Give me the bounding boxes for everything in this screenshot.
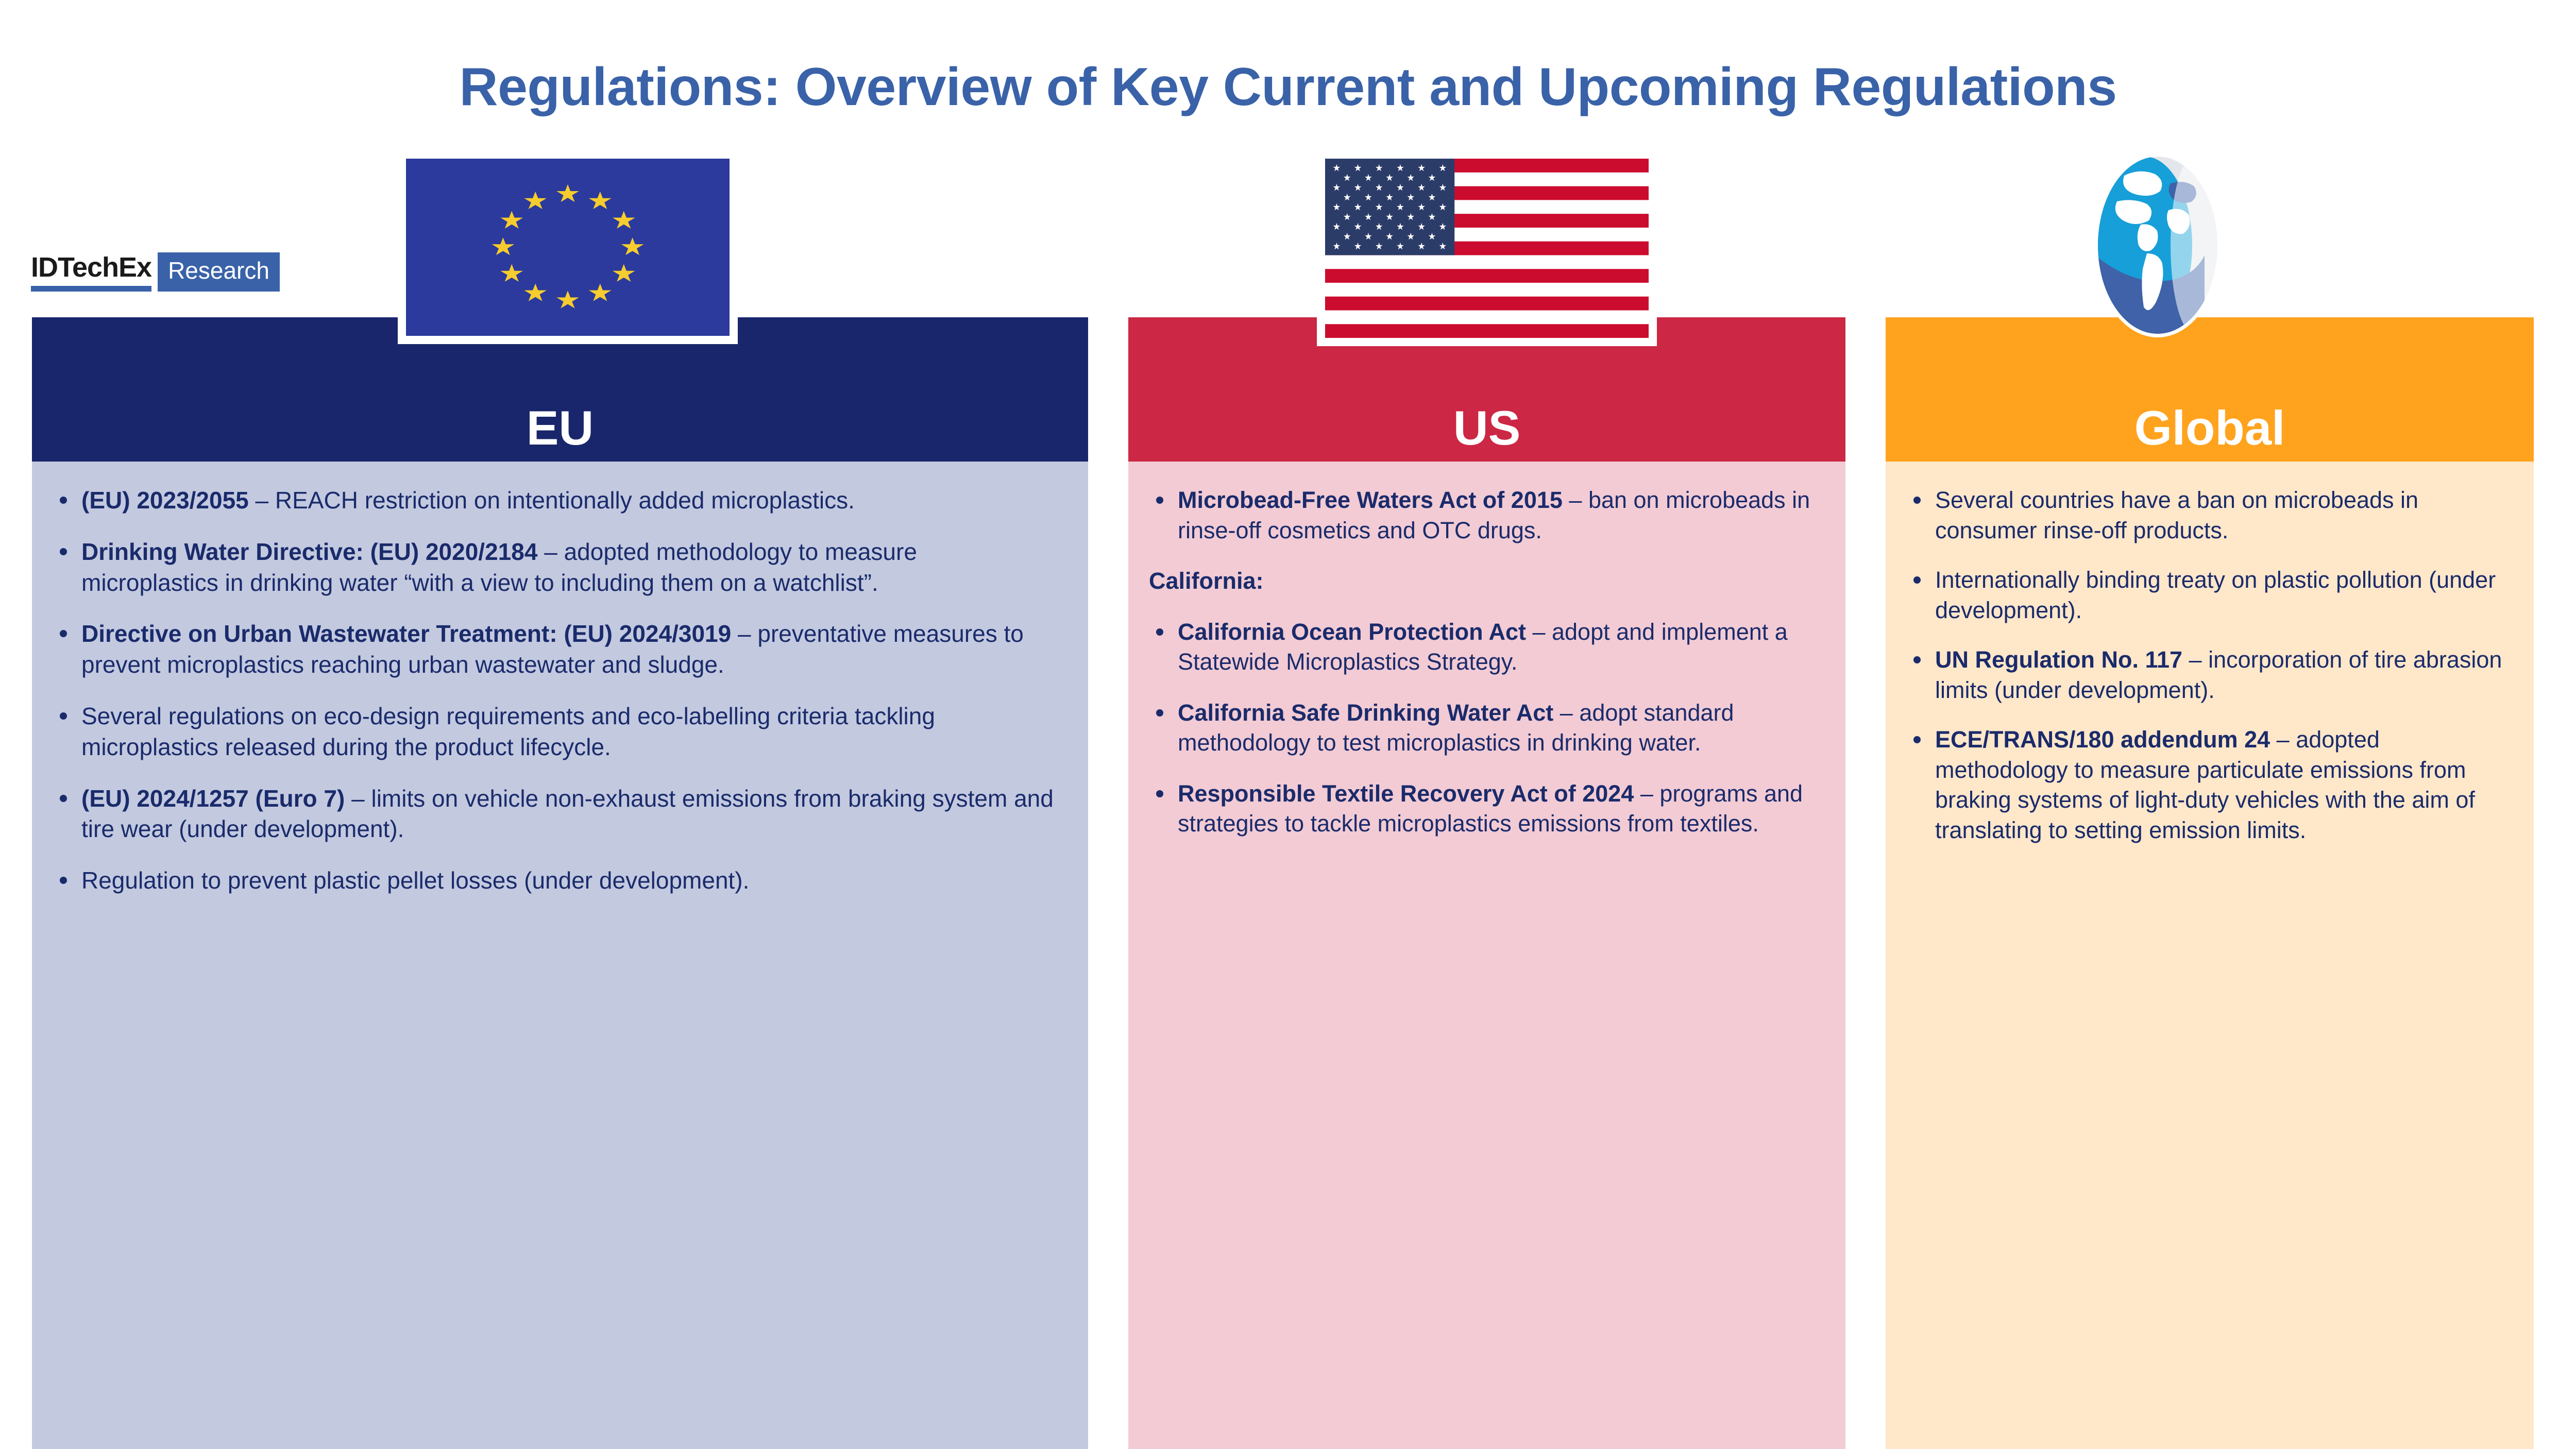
list-item-term: (EU) 2024/1257 (Euro 7) <box>81 785 345 812</box>
list-item-text: Regulation to prevent plastic pellet los… <box>81 867 749 894</box>
eu-flag-border <box>398 150 738 344</box>
eu-bullet-list: (EU) 2023/2055 – REACH restriction on in… <box>53 485 1059 896</box>
list-item: Microbead-Free Waters Act of 2015 – ban … <box>1149 485 1817 545</box>
list-item: Regulation to prevent plastic pellet los… <box>53 865 1059 896</box>
us-bullet-list-bottom: California Ocean Protection Act – adopt … <box>1149 617 1817 839</box>
list-item: UN Regulation No. 117 – incorporation of… <box>1906 645 2505 705</box>
column-us-body: Microbead-Free Waters Act of 2015 – ban … <box>1128 462 1845 1449</box>
list-item: Several regulations on eco-design requir… <box>53 701 1059 763</box>
list-item-term: Microbead-Free Waters Act of 2015 <box>1178 487 1563 513</box>
list-item-term: ECE/TRANS/180 addendum 24 <box>1935 726 2270 753</box>
slide-root: Regulations: Overview of Key Current and… <box>0 0 2576 1449</box>
list-item: ECE/TRANS/180 addendum 24 – adopted meth… <box>1906 725 2505 845</box>
list-item-text: – REACH restriction on intentionally add… <box>249 487 855 514</box>
column-global-label: Global <box>2134 404 2285 452</box>
eu-flag-field <box>406 159 730 336</box>
list-item-term: California Ocean Protection Act <box>1178 619 1526 645</box>
column-us-label: US <box>1453 404 1521 452</box>
list-item: Responsible Textile Recovery Act of 2024… <box>1149 779 1817 839</box>
idtechex-logo: IDTechEx Research <box>31 252 280 292</box>
page-title: Regulations: Overview of Key Current and… <box>0 57 2576 118</box>
column-eu: EU (EU) 2023/2055 – REACH restriction on… <box>32 317 1088 1449</box>
us-flag-field <box>1325 159 1649 338</box>
list-item-term: Responsible Textile Recovery Act of 2024 <box>1178 780 1634 807</box>
list-item-term: Drinking Water Directive: (EU) 2020/2184 <box>81 538 537 565</box>
eu-flag-icon <box>398 150 738 344</box>
list-item: Internationally binding treaty on plasti… <box>1906 565 2505 625</box>
list-item-term: (EU) 2023/2055 <box>81 487 249 514</box>
us-bullet-list-top: Microbead-Free Waters Act of 2015 – ban … <box>1149 485 1817 545</box>
list-item: (EU) 2024/1257 (Euro 7) – limits on vehi… <box>53 783 1059 845</box>
column-global-header: Global <box>1886 317 2534 462</box>
list-item-term: UN Regulation No. 117 <box>1935 646 2182 673</box>
list-item: Several countries have a ban on microbea… <box>1906 485 2505 545</box>
us-subheading-california: California: <box>1149 566 1817 596</box>
list-item: Drinking Water Directive: (EU) 2020/2184… <box>53 537 1059 599</box>
list-item-term: Directive on Urban Wastewater Treatment:… <box>81 620 731 647</box>
list-item: (EU) 2023/2055 – REACH restriction on in… <box>53 485 1059 516</box>
list-item: California Safe Drinking Water Act – ado… <box>1149 698 1817 758</box>
list-item-text: Several regulations on eco-design requir… <box>81 703 935 760</box>
us-flag-icon <box>1317 150 1657 346</box>
column-eu-label: EU <box>527 404 594 452</box>
logo-brand-text: IDTechEx <box>31 253 151 281</box>
list-item: Directive on Urban Wastewater Treatment:… <box>53 619 1059 680</box>
logo-underline-rule <box>31 286 151 292</box>
global-bullet-list: Several countries have a ban on microbea… <box>1906 485 2505 845</box>
list-item-term: California Safe Drinking Water Act <box>1178 700 1553 726</box>
list-item-text: Several countries have a ban on microbea… <box>1935 487 2418 543</box>
logo-wordmark: IDTechEx <box>31 252 158 292</box>
list-item: California Ocean Protection Act – adopt … <box>1149 617 1817 677</box>
column-global-body: Several countries have a ban on microbea… <box>1886 462 2534 1449</box>
logo-research-badge: Research <box>158 252 280 292</box>
globe-icon <box>2093 152 2222 338</box>
column-global: Global Several countries have a ban on m… <box>1886 317 2534 1449</box>
us-flag-border <box>1317 150 1657 346</box>
column-us: US Microbead-Free Waters Act of 2015 – b… <box>1128 317 1845 1449</box>
column-eu-body: (EU) 2023/2055 – REACH restriction on in… <box>32 462 1088 1449</box>
list-item-text: Internationally binding treaty on plasti… <box>1935 567 2496 623</box>
